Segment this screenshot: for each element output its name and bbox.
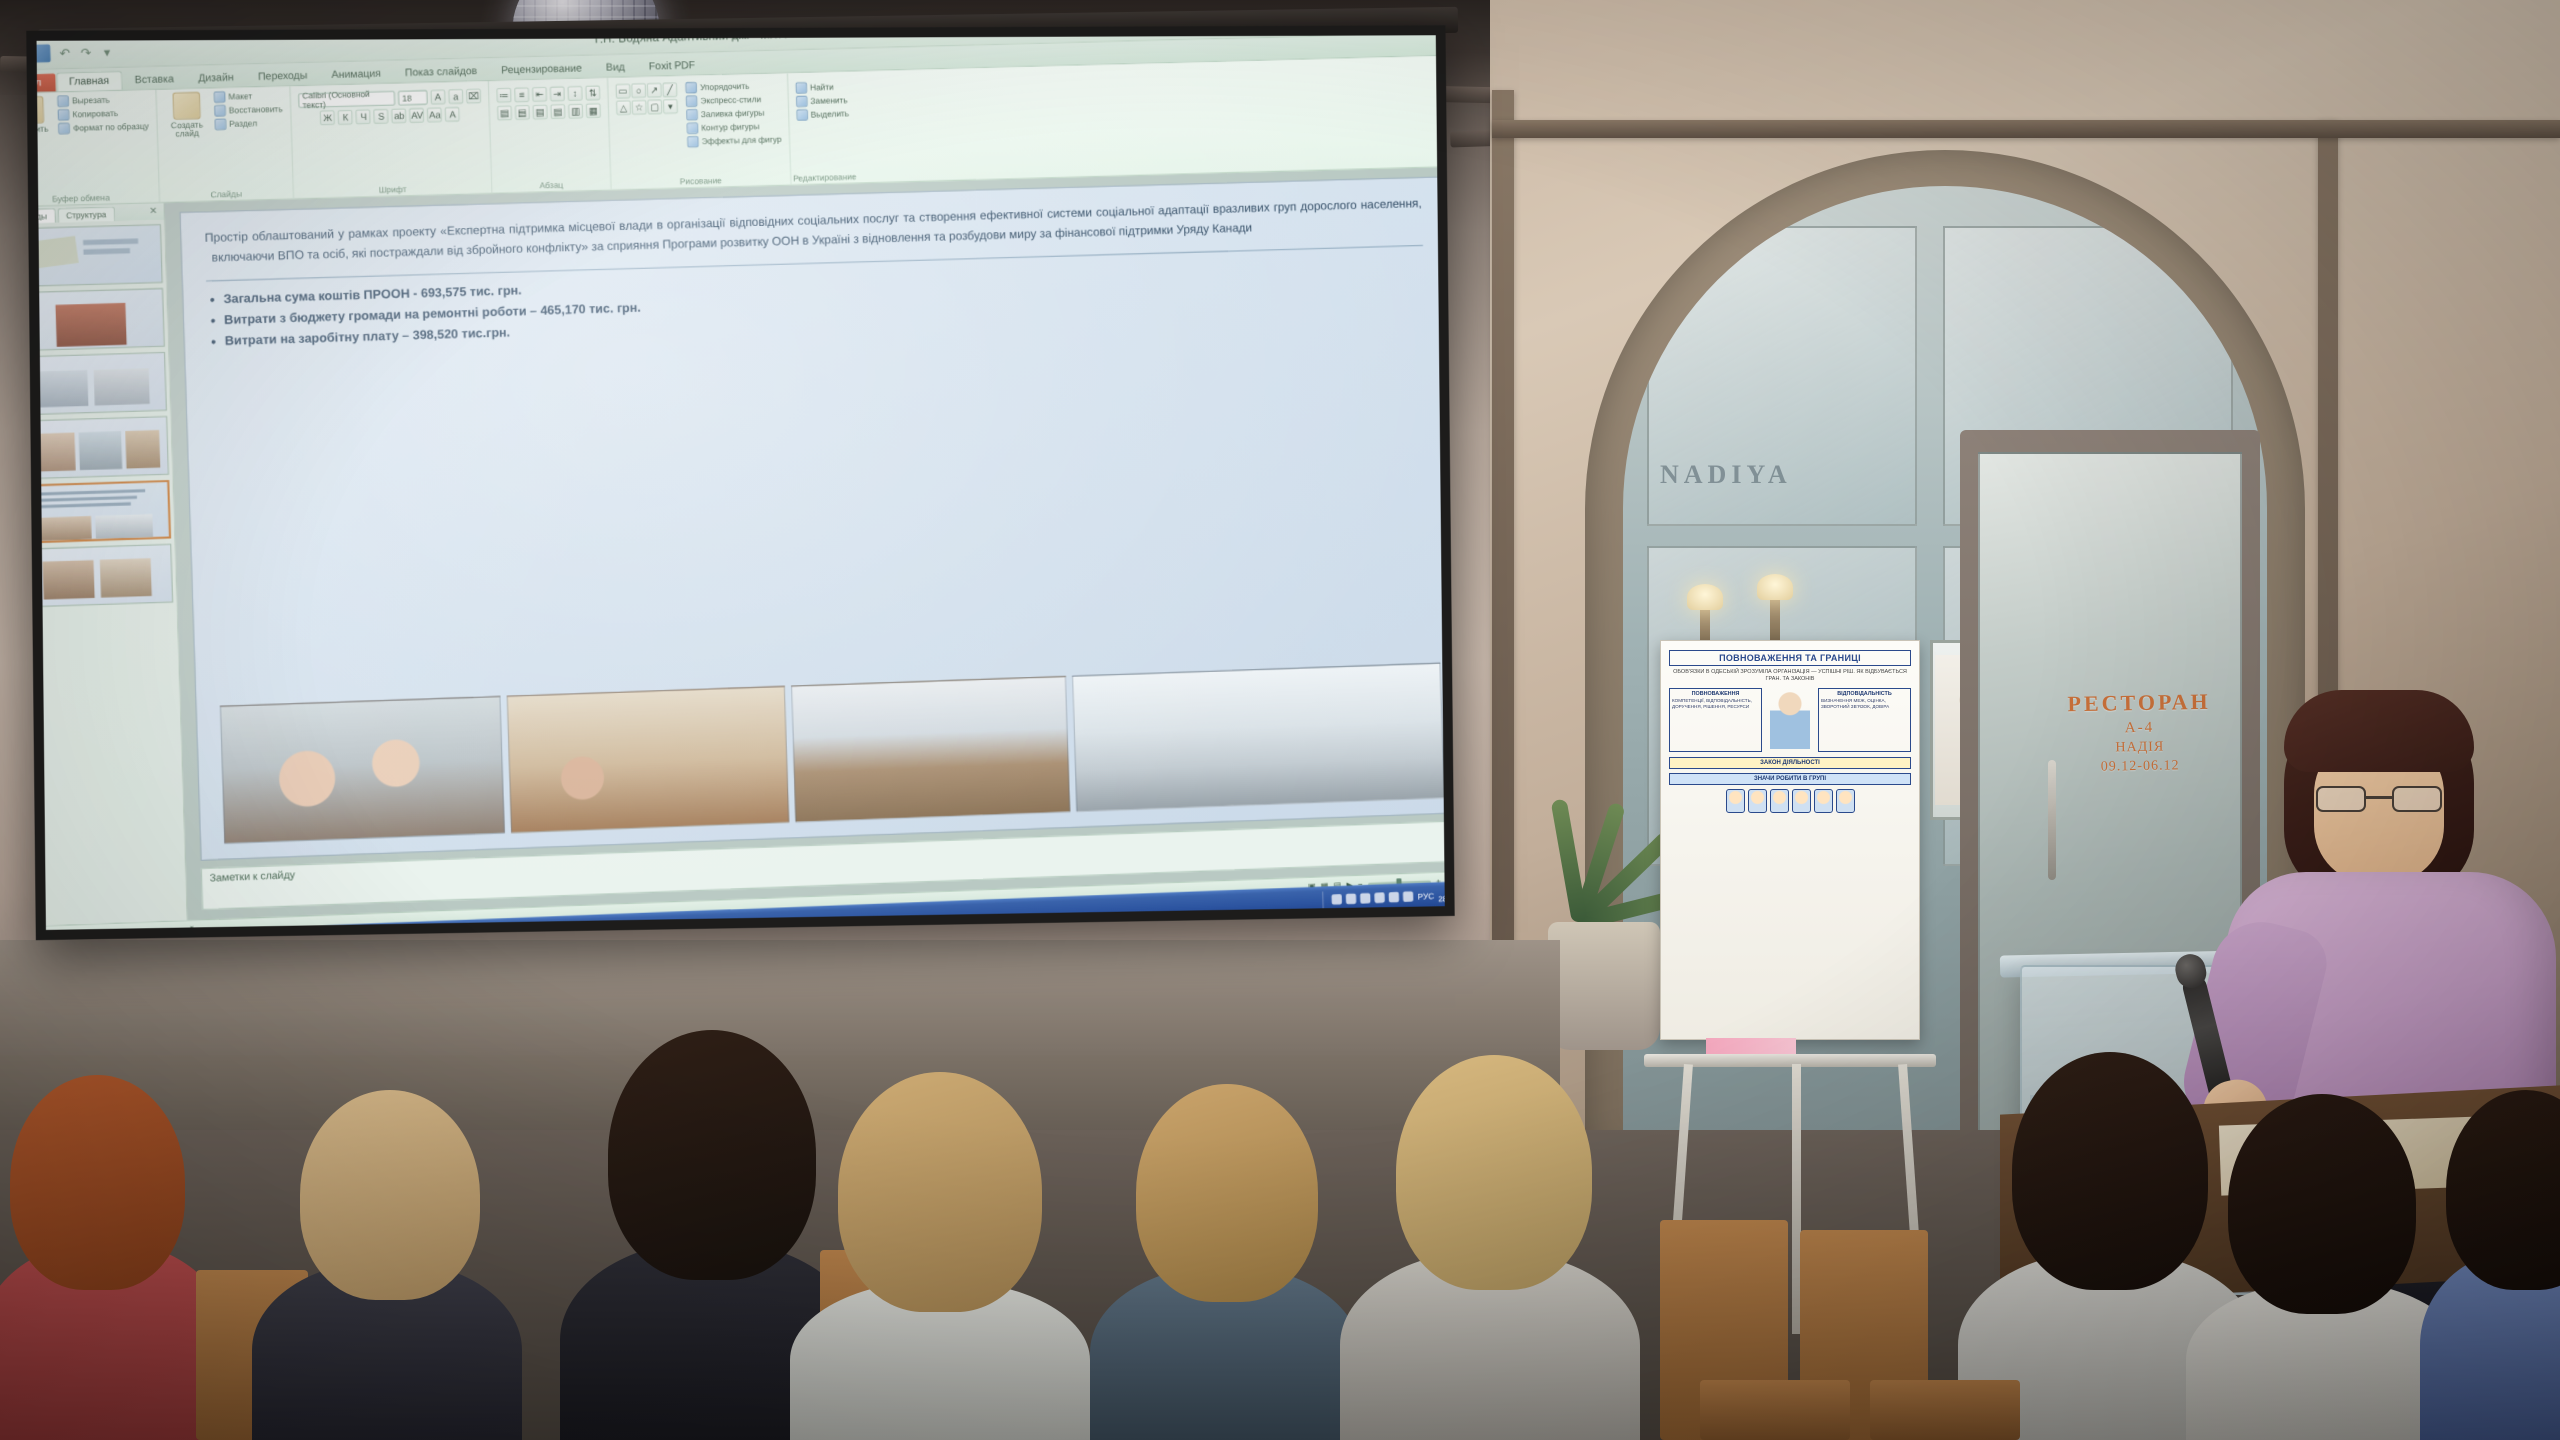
glasses-lens-left: [2316, 786, 2366, 812]
thumb-photo: [100, 558, 152, 597]
thumb-photo: [37, 433, 76, 472]
clipboard-group-label: Буфер обмена: [37, 192, 159, 206]
smartart-icon[interactable]: ▦: [586, 103, 601, 118]
audience-head: [838, 1072, 1042, 1312]
shape-callout-icon[interactable]: ▢: [647, 99, 662, 114]
thumb-photo: [95, 514, 153, 539]
audience-head: [2012, 1052, 2208, 1290]
quick-styles-label: Экспресс-стили: [700, 95, 761, 106]
font-name-combo[interactable]: Calibri (Основной текст): [298, 91, 395, 108]
section-label: Раздел: [229, 119, 257, 129]
ribbon-group-paragraph: ≔ ≡ ⇤ ⇥ ↕ ⇅ ▤ ▤ ▤ ▤: [489, 78, 612, 193]
character-spacing-button[interactable]: AV: [409, 108, 424, 123]
text-direction-icon[interactable]: ⇅: [585, 85, 600, 100]
slide-editor-pane: Простір облаштований у рамках проекту «Е…: [164, 167, 1444, 920]
ribbon-group-editing: Найти Заменить Выделить Редактиров: [788, 71, 859, 184]
increase-indent-icon[interactable]: ⇥: [550, 86, 565, 101]
reset-label: Восстановить: [229, 104, 283, 115]
format-painter-button[interactable]: Формат по образцу: [58, 121, 149, 135]
layout-button[interactable]: Макет: [213, 90, 282, 103]
glasses-lens-right: [2392, 786, 2442, 812]
projected-image: ↶ ↷ ▾ Г.Н. Водяна Адаптивний дім - Micro…: [37, 35, 1445, 930]
close-pane-icon[interactable]: ✕: [149, 205, 161, 220]
align-right-icon[interactable]: ▤: [533, 105, 548, 120]
projection-screen: ↶ ↷ ▾ Г.Н. Водяна Адаптивний дім - Micro…: [26, 25, 1454, 940]
wall-beam-horizontal: [1492, 120, 2560, 138]
thumb-text: [40, 502, 131, 508]
audience-head: [608, 1030, 816, 1280]
layout-label: Макет: [228, 92, 252, 102]
thumbnail-preview[interactable]: [37, 544, 174, 607]
audience-head: [10, 1075, 185, 1290]
audience-head: [2446, 1090, 2560, 1290]
flipchart-column-1-body: КОМПЕТЕНЦІЇ, ВІДПОВІДАЛЬНІСТЬ, ДОРУЧЕННЯ…: [1672, 698, 1752, 709]
thumb-text: [83, 238, 138, 245]
thumbnail-item[interactable]: 3: [37, 352, 167, 415]
slide-paragraph[interactable]: Простір облаштований у рамках проекту «Е…: [204, 195, 1422, 269]
paste-label: Вставить: [37, 125, 49, 135]
thumb-shape: [37, 236, 79, 269]
ribbon-group-font: Calibri (Основной текст) 18 A a ⌧ Ж К Ч …: [290, 81, 492, 198]
audience-head: [2228, 1094, 2416, 1314]
thumbnail-preview[interactable]: [37, 416, 169, 479]
new-slide-icon: [172, 92, 200, 120]
format-painter-label: Формат по образцу: [73, 122, 149, 133]
flipchart-title: ПОВНОВАЖЕННЯ ТА ГРАНИЦІ: [1669, 650, 1911, 666]
slide-photo-strip: [220, 663, 1445, 844]
ribbon-group-slides: Создать слайд Макет Восстановить: [156, 86, 294, 202]
reset-icon: [214, 105, 226, 117]
find-button[interactable]: Найти: [795, 81, 848, 94]
thumb-photo: [94, 368, 150, 405]
editor-work-area: Слайды Структура ✕ 1: [37, 167, 1445, 926]
numbering-icon[interactable]: ≡: [514, 87, 529, 102]
slide-photo-3[interactable]: [791, 676, 1071, 823]
thumb-photo: [55, 303, 126, 347]
flipchart-column-1: ПОВНОВАЖЕННЯ КОМПЕТЕНЦІЇ, ВІДПОВІДАЛЬНІС…: [1669, 688, 1762, 752]
audience-head: [300, 1090, 480, 1300]
search-icon: [795, 82, 807, 94]
shape-line-icon[interactable]: ╱: [662, 82, 677, 97]
shape-effects-button[interactable]: Эффекты для фигур: [687, 134, 782, 148]
thumb-photo: [43, 560, 95, 599]
arrange-label: Упорядочить: [700, 82, 750, 93]
arrange-button[interactable]: Упорядочить: [685, 80, 780, 94]
flipchart-face: [1814, 789, 1833, 813]
shape-fill-icon: [686, 109, 698, 121]
shape-fill-button[interactable]: Заливка фигуры: [686, 107, 781, 121]
find-label: Найти: [810, 82, 834, 92]
clock-date: 28.04.2023: [1438, 893, 1445, 904]
presenter-glasses: [2316, 786, 2442, 812]
slide-thumbnails: 1 2: [37, 220, 187, 926]
thumbnail-item[interactable]: 1: [37, 224, 163, 287]
tab-animation[interactable]: Анимация: [320, 65, 393, 85]
tab-home[interactable]: Главная: [56, 71, 122, 92]
paste-button[interactable]: Вставить: [37, 96, 54, 135]
reset-button[interactable]: Восстановить: [214, 103, 283, 116]
thumb-photo: [125, 430, 160, 469]
slide-counter: Слайд 5 из 6: [37, 929, 87, 930]
flipchart-column-2: ВІДПОВІДАЛЬНІСТЬ ВИЗНАЧЕННЯ МЕЖ, ОЦІНКА,…: [1818, 688, 1911, 752]
clear-formatting-icon[interactable]: ⌧: [466, 89, 481, 104]
bold-button[interactable]: Ж: [320, 110, 335, 125]
shape-more-icon[interactable]: ▾: [663, 99, 678, 114]
layout-icon: [213, 91, 225, 103]
flipchart-footer-band: ЗНАЧИ РОБИТИ В ГРУПІ: [1669, 773, 1911, 785]
shape-rect-icon[interactable]: ▭: [615, 84, 630, 99]
thumbnail-item[interactable]: 4: [37, 416, 169, 480]
conference-room-scene: NADIYA РЕСТОРАН А-4 НАДІЯ 09.12-06.12: [0, 0, 2560, 1440]
shape-outline-icon: [687, 122, 699, 134]
flipchart-face: [1836, 789, 1855, 813]
thumb-text: [83, 248, 130, 255]
flash-icon[interactable]: [1375, 892, 1386, 903]
thumbnail-item-selected[interactable]: 5: [37, 480, 172, 544]
quick-styles-icon: [686, 95, 698, 107]
replace-label: Заменить: [810, 96, 848, 106]
flipchart-band: ЗАКОН ДІЯЛЬНОСТІ: [1669, 757, 1911, 769]
shadow-button[interactable]: S: [374, 109, 389, 124]
slides-outline-pane: Слайды Структура ✕ 1: [37, 203, 188, 926]
flipchart-face: [1792, 789, 1811, 813]
thumb-text: [39, 496, 137, 502]
tab-foxit-pdf[interactable]: Foxit PDF: [637, 57, 707, 77]
select-icon: [796, 109, 808, 121]
shape-fill-label: Заливка фигуры: [701, 108, 765, 119]
chair-seat: [1700, 1380, 1850, 1440]
tab-review[interactable]: Рецензирование: [489, 60, 593, 80]
quick-styles-button[interactable]: Экспресс-стили: [686, 93, 781, 107]
section-icon: [214, 118, 226, 130]
flipchart-column-2-body: ВИЗНАЧЕННЯ МЕЖ, ОЦІНКА, ЗВОРОТНИЙ ЗВ'ЯЗО…: [1821, 698, 1889, 709]
pane-tab-slides[interactable]: Слайды: [37, 208, 56, 224]
plant-frond: [1551, 798, 1588, 923]
shape-arrow-icon[interactable]: ↗: [647, 83, 662, 98]
decrease-font-icon[interactable]: a: [448, 89, 463, 104]
shape-circle-icon[interactable]: ○: [631, 83, 646, 98]
wall-logo: NADIYA: [1660, 460, 1860, 506]
shape-outline-label: Контур фигуры: [701, 122, 759, 133]
tab-slideshow[interactable]: Показ слайдов: [393, 62, 489, 82]
section-button[interactable]: Раздел: [214, 117, 283, 130]
thumb-photo: [40, 516, 92, 541]
underline-button[interactable]: Ч: [356, 109, 371, 124]
wall-sconce-2: [1770, 590, 1780, 644]
slide-photo-2[interactable]: [506, 686, 788, 834]
slide-photo-4[interactable]: [1073, 663, 1445, 813]
volume-icon[interactable]: [1346, 893, 1357, 904]
strikethrough-button[interactable]: ab: [392, 108, 407, 123]
tab-view[interactable]: Вид: [594, 58, 636, 77]
tab-file[interactable]: Файл: [37, 74, 56, 93]
replace-icon: [796, 96, 808, 108]
select-label: Выделить: [811, 109, 850, 119]
thumb-text: [39, 489, 145, 496]
bullets-icon[interactable]: ≔: [496, 88, 511, 103]
thumbnail-preview-active[interactable]: [37, 480, 172, 543]
thumb-photo: [37, 370, 89, 407]
system-tray: РУС 15:21 28.04.2023: [1323, 886, 1445, 908]
change-case-button[interactable]: Aa: [427, 107, 442, 122]
font-color-button[interactable]: A: [445, 107, 460, 122]
audience: [0, 940, 2560, 1440]
pane-tab-outline[interactable]: Структура: [57, 206, 115, 222]
slides-group-label: Слайды: [160, 188, 293, 201]
copy-icon: [58, 109, 70, 121]
shape-triangle-icon[interactable]: △: [616, 100, 631, 115]
columns-icon[interactable]: ▥: [568, 104, 583, 119]
flipchart-face: [1748, 789, 1767, 813]
chair-seat: [1870, 1380, 2020, 1440]
tab-transitions[interactable]: Переходы: [246, 67, 319, 87]
align-left-icon[interactable]: ▤: [497, 106, 512, 121]
audience-head: [1396, 1055, 1592, 1290]
keyboard-icon[interactable]: [1389, 892, 1400, 903]
shape-outline-button[interactable]: Контур фигуры: [687, 120, 782, 134]
shape-star-icon[interactable]: ☆: [632, 100, 647, 115]
battery-icon[interactable]: [1403, 891, 1414, 902]
shape-effects-label: Эффекты для фигур: [702, 135, 782, 147]
glasses-bridge: [2366, 796, 2392, 799]
current-slide[interactable]: Простір облаштований у рамках проекту «Е…: [180, 176, 1445, 860]
language-label: русский: [164, 925, 195, 930]
audience-head: [1136, 1084, 1318, 1302]
italic-button[interactable]: К: [338, 110, 353, 125]
flipchart-column-1-heading: ПОВНОВАЖЕННЯ: [1672, 691, 1759, 697]
shield-icon[interactable]: [1360, 893, 1371, 904]
thumbnail-item[interactable]: 2: [37, 288, 165, 351]
copy-button[interactable]: Копировать: [58, 107, 149, 121]
flipchart-person-sketch: [1770, 691, 1810, 749]
replace-button[interactable]: Заменить: [796, 94, 849, 107]
flipchart-face: [1726, 789, 1745, 813]
arrange-icon: [685, 82, 697, 94]
thumbnail-preview[interactable]: [37, 352, 167, 415]
theme-name: "Office Theme": [97, 927, 154, 930]
copy-label: Копировать: [72, 109, 118, 120]
cut-button[interactable]: Вырезать: [57, 93, 148, 107]
network-icon[interactable]: [1332, 894, 1343, 905]
select-button[interactable]: Выделить: [796, 108, 849, 121]
slide-bullet-list[interactable]: Загальна сума коштів ПРООН - 693,575 тис…: [206, 256, 1425, 352]
thumb-photo: [79, 431, 123, 470]
increase-font-icon[interactable]: A: [430, 90, 445, 105]
thumbnail-preview[interactable]: [37, 288, 165, 351]
line-spacing-icon[interactable]: ↕: [567, 86, 582, 101]
ribbon-group-clipboard: Вставить Вырезать Копировать: [37, 90, 160, 207]
paste-icon: [37, 96, 45, 124]
powerpoint-window: ↶ ↷ ▾ Г.Н. Водяна Адаптивний дім - Micro…: [37, 35, 1445, 930]
align-center-icon[interactable]: ▤: [515, 105, 530, 120]
new-slide-label: Создать слайд: [165, 121, 210, 140]
paragraph-group-label: Абзац: [492, 179, 610, 192]
thumbnail-item[interactable]: 6: [37, 544, 174, 608]
format-painter-icon: [58, 123, 70, 135]
taskbar-item-2[interactable]: Г.Н. Водяна Адап...: [306, 925, 412, 929]
tab-insert[interactable]: Вставка: [123, 70, 186, 89]
shape-effects-icon: [687, 136, 699, 148]
decrease-indent-icon[interactable]: ⇤: [532, 87, 547, 102]
cut-label: Вырезать: [72, 95, 110, 105]
presenter-hair-front: [2284, 690, 2474, 772]
new-slide-button[interactable]: Создать слайд: [164, 92, 210, 140]
flipchart-subtitle: ОБОВ'ЯЗКИ В ОДЕСЬКІЙ ЗРОЗУМІЛА ОРГАНІЗАЦ…: [1669, 669, 1911, 683]
justify-icon[interactable]: ▤: [550, 104, 565, 119]
editing-group-label: Редактирование: [791, 172, 859, 183]
thumbnail-preview[interactable]: [37, 224, 163, 287]
flipchart-face: [1770, 789, 1789, 813]
font-size-combo[interactable]: 18: [398, 90, 428, 105]
language-indicator[interactable]: РУС: [1418, 891, 1435, 901]
flipchart-face-row: [1669, 789, 1911, 813]
cut-icon: [57, 95, 69, 107]
clock[interactable]: 15:21 28.04.2023: [1438, 886, 1445, 904]
tab-design[interactable]: Дизайн: [186, 69, 245, 88]
slide-photo-1[interactable]: [220, 696, 505, 844]
flipchart-column-2-heading: ВІДПОВІДАЛЬНІСТЬ: [1821, 691, 1908, 697]
ribbon-group-drawing: ▭ ○ ↗ ╱ △ ☆ ▢ ▾: [608, 73, 791, 189]
